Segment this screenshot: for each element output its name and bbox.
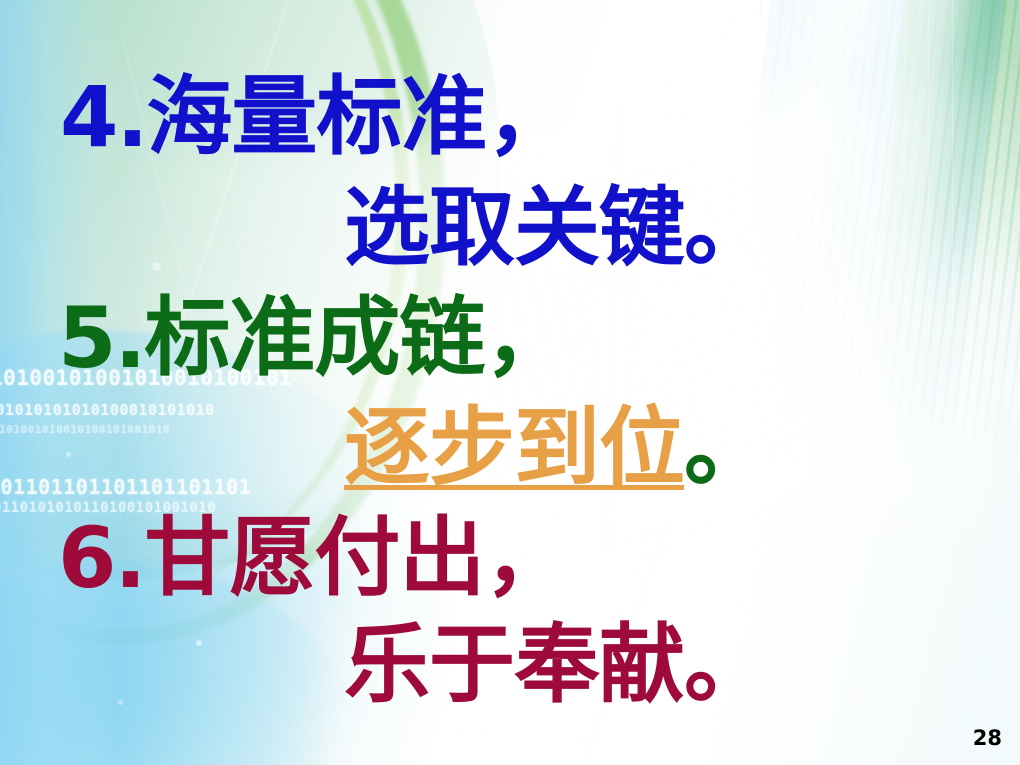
slide-canvas: 10100101001010010100101 1010101010101000… (0, 0, 1020, 765)
bullet-line-5-second: 逐步到位。 (344, 405, 769, 491)
slide-body: 4.海量标准， 选取关键。 5.标准成链， 逐步到位。 6.甘愿付出， 乐于奉献… (0, 0, 1020, 765)
bullet-number-5: 5. (58, 289, 144, 387)
bullet-line-5-first: 5.标准成链， (58, 295, 569, 381)
bullet-text-4-second: 选取关键。 (344, 177, 769, 278)
bullet-number-6: 6. (58, 509, 144, 607)
bullet-line-4-first: 4.海量标准， (60, 74, 571, 160)
bullet-text-5-second: 逐步到位 (344, 397, 684, 498)
bullet-line-6-first: 6.甘愿付出， (58, 515, 569, 601)
bullet-text-6-first: 甘愿付出， (144, 507, 569, 608)
page-number: 28 (973, 726, 1002, 750)
bullet-number-4: 4. (60, 68, 146, 166)
bullet-text-4-first: 海量标准， (146, 66, 571, 167)
bullet-line-6-second: 乐于奉献。 (344, 622, 769, 708)
bullet-text-5-second-period: 。 (684, 397, 769, 498)
bullet-line-4-second: 选取关键。 (344, 185, 769, 271)
bullet-text-6-second: 乐于奉献。 (344, 614, 769, 715)
bullet-text-5-first: 标准成链， (144, 287, 569, 388)
